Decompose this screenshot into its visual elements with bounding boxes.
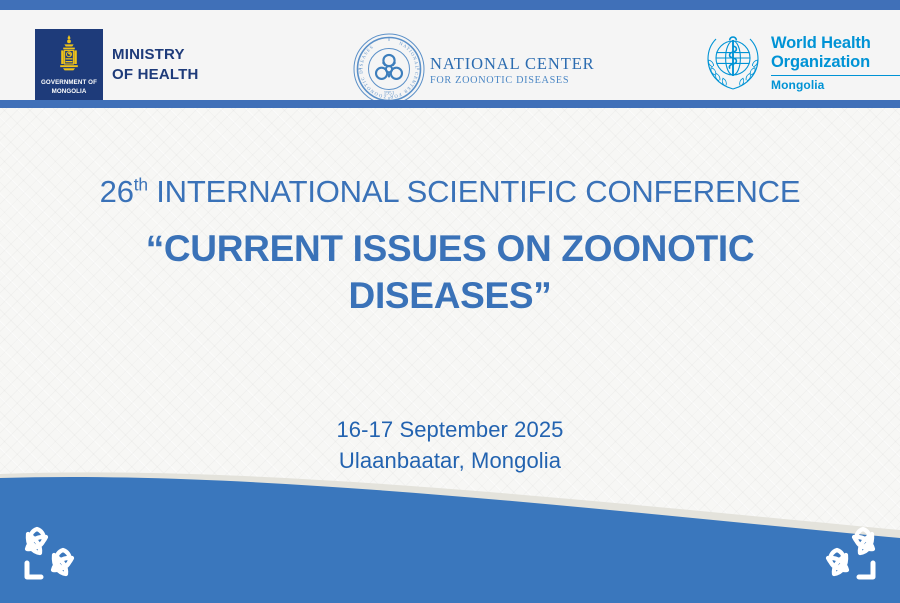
- logo-header-band: GOVERNMENT OF MONGOLIA MINISTRY OF HEALT…: [0, 10, 900, 100]
- conference-theme: “CURRENT ISSUES ON ZOONOTIC DISEASES”: [0, 225, 900, 320]
- who-name-line2: Organization: [771, 53, 900, 72]
- ministry-of-health-logo: GOVERNMENT OF MONGOLIA MINISTRY OF HEALT…: [35, 29, 199, 101]
- wave-fill: [0, 477, 900, 603]
- conference-line: 26th INTERNATIONAL SCIENTIFIC CONFERENCE: [0, 174, 900, 211]
- mongolian-knot-ornament-right: [810, 521, 884, 587]
- national-center-name: NATIONAL CENTER FOR ZOONOTIC DISEASES: [430, 55, 595, 87]
- mongolia-government-emblem: GOVERNMENT OF MONGOLIA: [35, 29, 103, 101]
- event-dates: 16-17 September 2025: [0, 414, 900, 445]
- who-mongolia-logo: World Health Organization Mongolia: [702, 31, 900, 93]
- title-block: 26th INTERNATIONAL SCIENTIFIC CONFERENCE…: [0, 174, 900, 319]
- emblem-caption-line2: MONGOLIA: [35, 88, 103, 96]
- who-divider: [771, 75, 900, 77]
- conference-number: 26: [100, 174, 134, 209]
- national-center-zoonotic-diseases-logo: 1951 NATIONAL CENTER FOR ZOONOTIC DISEAS…: [352, 32, 595, 106]
- conference-title-slide: GOVERNMENT OF MONGOLIA MINISTRY OF HEALT…: [0, 0, 900, 603]
- ministry-name-line1: MINISTRY: [112, 45, 199, 65]
- conference-ordinal: th: [134, 175, 148, 195]
- soyombo-icon: [54, 34, 84, 78]
- who-emblem-icon: [702, 31, 764, 93]
- zoonotic-seal-icon: 1951 NATIONAL CENTER FOR ZOONOTIC DISEAS…: [352, 32, 426, 106]
- ministry-name-line2: OF HEALTH: [112, 65, 199, 85]
- national-center-line2: FOR ZOONOTIC DISEASES: [430, 75, 595, 87]
- emblem-caption: GOVERNMENT OF MONGOLIA: [35, 79, 103, 96]
- emblem-caption-line1: GOVERNMENT OF: [35, 79, 103, 87]
- bottom-wave-decoration: [0, 468, 900, 603]
- who-name-line1: World Health: [771, 34, 900, 53]
- header-divider-bar: [0, 100, 900, 108]
- national-center-line1: NATIONAL CENTER: [430, 55, 595, 73]
- ministry-name: MINISTRY OF HEALTH: [112, 45, 199, 86]
- who-wordmark: World Health Organization Mongolia: [771, 31, 900, 92]
- top-accent-bar: [0, 0, 900, 10]
- who-country-label: Mongolia: [771, 78, 900, 92]
- conference-text: INTERNATIONAL SCIENTIFIC CONFERENCE: [148, 174, 800, 209]
- mongolian-knot-ornament-left: [16, 521, 90, 587]
